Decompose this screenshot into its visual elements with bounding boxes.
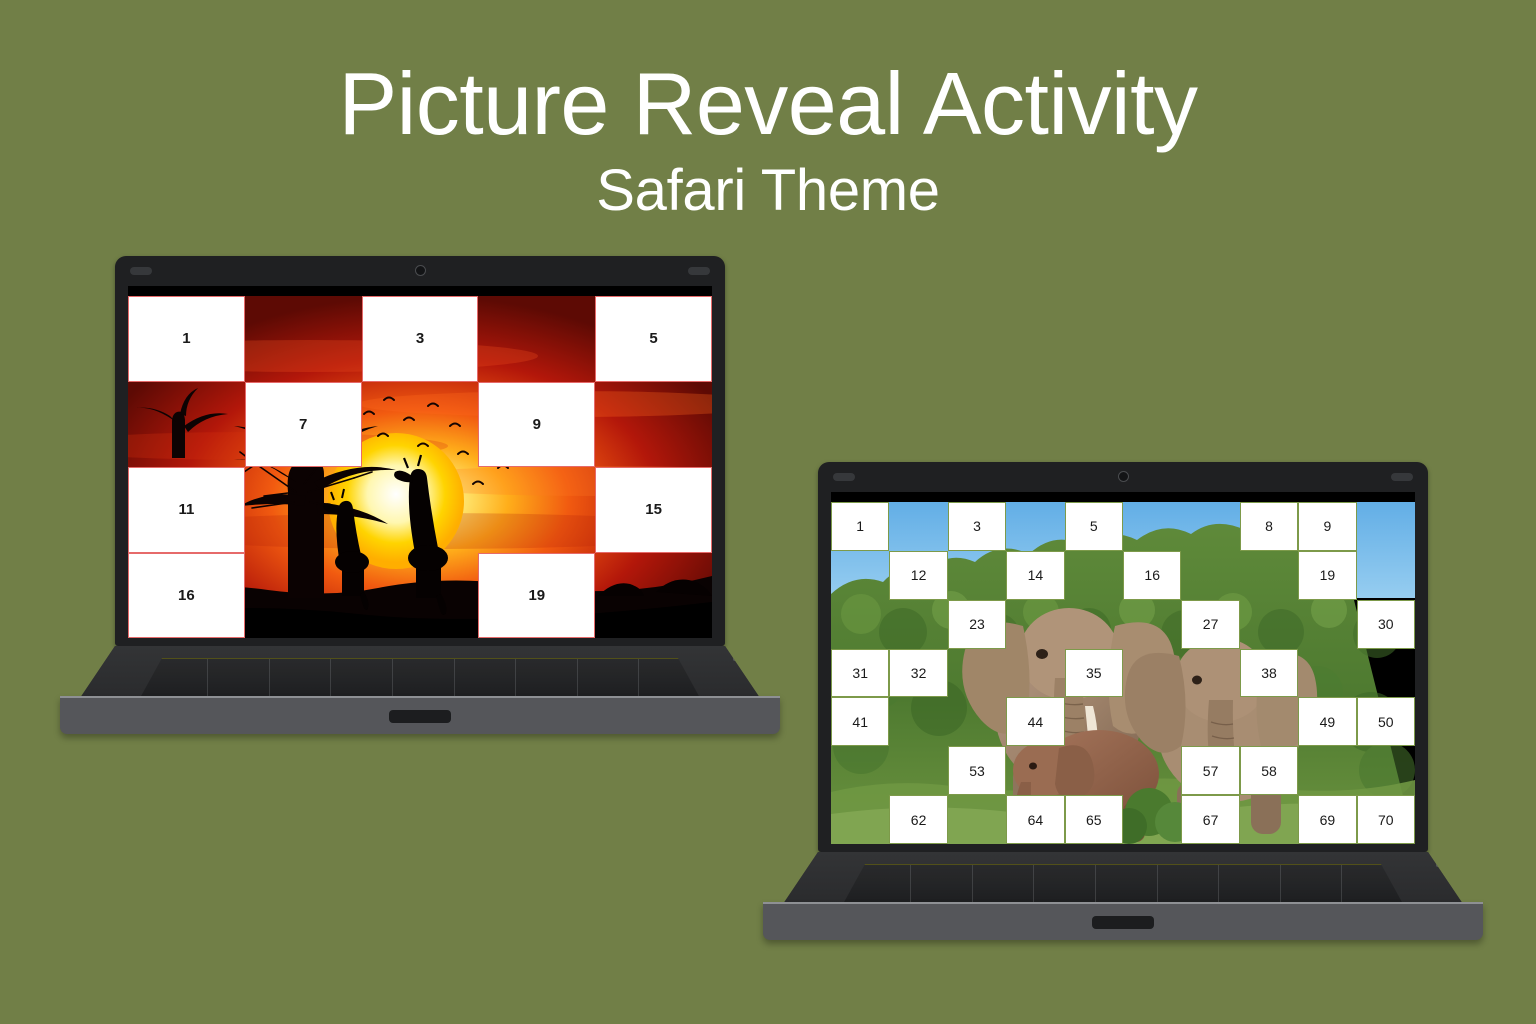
reveal-tile-number: 35 <box>1086 665 1102 681</box>
lid-release-notch-icon <box>1092 916 1154 929</box>
reveal-tile-number: 7 <box>299 416 307 433</box>
reveal-tile-number: 1 <box>182 330 190 347</box>
laptop-right-keyboard <box>843 864 1403 904</box>
speaker-grille-right-icon <box>1391 473 1413 481</box>
reveal-tile-revealed[interactable] <box>1123 795 1181 844</box>
reveal-tile-revealed[interactable] <box>1298 649 1356 698</box>
reveal-tile-revealed[interactable] <box>948 697 1006 746</box>
hinge-indicator-icon <box>1436 860 1449 867</box>
reveal-tile-number: 50 <box>1378 714 1394 730</box>
reveal-tile-revealed[interactable] <box>1181 697 1239 746</box>
reveal-tile-revealed[interactable] <box>889 697 947 746</box>
laptop-left-keyboard <box>140 658 700 698</box>
webcam-icon <box>415 265 426 276</box>
reveal-tile-covered[interactable]: 53 <box>948 746 1006 795</box>
reveal-tile-covered[interactable]: 19 <box>478 553 595 639</box>
reveal-tile-number: 70 <box>1378 812 1394 828</box>
reveal-tile-covered[interactable]: 23 <box>948 600 1006 649</box>
reveal-tile-revealed[interactable] <box>1181 551 1239 600</box>
reveal-tile-covered[interactable]: 8 <box>1240 502 1298 551</box>
reveal-tile-number: 30 <box>1378 616 1394 632</box>
reveal-tile-covered[interactable]: 7 <box>245 382 362 468</box>
reveal-tile-revealed[interactable] <box>1123 502 1181 551</box>
reveal-tile-revealed[interactable] <box>1240 600 1298 649</box>
reveal-tile-revealed[interactable] <box>831 600 889 649</box>
reveal-tile-number: 49 <box>1320 714 1336 730</box>
laptop-left-lid: 1357911151619 <box>115 256 725 646</box>
reveal-tile-revealed[interactable] <box>128 382 245 468</box>
reveal-tile-covered[interactable]: 44 <box>1006 697 1064 746</box>
reveal-tile-number: 67 <box>1203 812 1219 828</box>
page-title: Picture Reveal Activity <box>0 58 1536 150</box>
reveal-tile-number: 38 <box>1261 665 1277 681</box>
reveal-tile-covered[interactable]: 57 <box>1181 746 1239 795</box>
reveal-tile-number: 41 <box>852 714 868 730</box>
reveal-tile-number: 9 <box>1323 518 1331 534</box>
reveal-tile-revealed[interactable] <box>1181 502 1239 551</box>
page-heading: Picture Reveal Activity Safari Theme <box>0 58 1536 225</box>
reveal-tile-number: 8 <box>1265 518 1273 534</box>
reveal-tile-covered[interactable]: 38 <box>1240 649 1298 698</box>
reveal-tile-revealed[interactable] <box>1065 600 1123 649</box>
reveal-tile-revealed[interactable] <box>1357 502 1415 551</box>
reveal-tile-revealed[interactable] <box>1123 746 1181 795</box>
reveal-tile-revealed[interactable] <box>831 551 889 600</box>
reveal-tile-covered[interactable]: 1 <box>831 502 889 551</box>
reveal-tile-covered[interactable]: 30 <box>1357 600 1415 649</box>
reveal-tile-revealed[interactable] <box>1181 649 1239 698</box>
reveal-tile-covered[interactable]: 3 <box>362 296 479 382</box>
reveal-tile-number: 19 <box>528 587 545 604</box>
reveal-tile-number: 62 <box>911 812 927 828</box>
hinge-indicator-icon <box>733 654 746 661</box>
reveal-tile-covered[interactable]: 67 <box>1181 795 1239 844</box>
page-subtitle: Safari Theme <box>0 158 1536 225</box>
reveal-tile-number: 1 <box>856 518 864 534</box>
reveal-tile-number: 31 <box>852 665 868 681</box>
reveal-tile-covered[interactable]: 58 <box>1240 746 1298 795</box>
reveal-tile-covered[interactable]: 16 <box>1123 551 1181 600</box>
reveal-tile-covered[interactable]: 1 <box>128 296 245 382</box>
laptop-right: 1358912141619232730313235384144495053575… <box>763 462 1483 952</box>
reveal-tile-revealed[interactable] <box>1065 551 1123 600</box>
reveal-tile-covered[interactable]: 70 <box>1357 795 1415 844</box>
reveal-tile-number: 44 <box>1028 714 1044 730</box>
reveal-tile-number: 16 <box>178 587 195 604</box>
reveal-tile-covered[interactable]: 62 <box>889 795 947 844</box>
reveal-tile-revealed[interactable] <box>595 553 712 639</box>
reveal-tile-revealed[interactable] <box>889 502 947 551</box>
reveal-tile-revealed[interactable] <box>831 746 889 795</box>
reveal-tile-covered[interactable]: 27 <box>1181 600 1239 649</box>
reveal-tile-covered[interactable]: 19 <box>1298 551 1356 600</box>
speaker-grille-left-icon <box>130 267 152 275</box>
reveal-tile-covered[interactable]: 5 <box>1065 502 1123 551</box>
reveal-tile-number: 65 <box>1086 812 1102 828</box>
reveal-tile-revealed[interactable] <box>1123 649 1181 698</box>
reveal-tile-revealed[interactable] <box>831 795 889 844</box>
reveal-tile-revealed[interactable] <box>245 553 362 639</box>
reveal-tile-revealed[interactable] <box>245 296 362 382</box>
reveal-tile-number: 12 <box>911 567 927 583</box>
reveal-tile-revealed[interactable] <box>1240 795 1298 844</box>
reveal-tile-number: 3 <box>973 518 981 534</box>
reveal-tile-covered[interactable]: 69 <box>1298 795 1356 844</box>
reveal-tile-number: 27 <box>1203 616 1219 632</box>
reveal-tile-number: 11 <box>178 501 194 518</box>
laptop-left-bezel <box>115 256 725 286</box>
laptop-right-lid: 1358912141619232730313235384144495053575… <box>818 462 1428 852</box>
picture-reveal-grid-elephant[interactable]: 1358912141619232730313235384144495053575… <box>831 502 1415 844</box>
reveal-tile-covered[interactable]: 31 <box>831 649 889 698</box>
picture-reveal-grid-giraffe[interactable]: 1357911151619 <box>128 296 712 638</box>
reveal-tile-covered[interactable]: 5 <box>595 296 712 382</box>
speaker-grille-right-icon <box>688 267 710 275</box>
reveal-tile-covered[interactable]: 9 <box>1298 502 1356 551</box>
reveal-tile-covered[interactable]: 65 <box>1065 795 1123 844</box>
reveal-tile-covered[interactable]: 50 <box>1357 697 1415 746</box>
reveal-tile-revealed[interactable] <box>1357 746 1415 795</box>
reveal-tile-revealed[interactable] <box>1006 649 1064 698</box>
reveal-tile-number: 53 <box>969 763 985 779</box>
reveal-tile-covered[interactable]: 35 <box>1065 649 1123 698</box>
reveal-tile-revealed[interactable] <box>1298 600 1356 649</box>
reveal-tile-number: 5 <box>649 330 657 347</box>
reveal-tile-revealed[interactable] <box>1240 697 1298 746</box>
reveal-tile-number: 3 <box>416 330 424 347</box>
reveal-tile-revealed[interactable] <box>478 467 595 553</box>
reveal-tile-number: 57 <box>1203 763 1219 779</box>
reveal-tile-covered[interactable]: 16 <box>128 553 245 639</box>
reveal-tile-number: 64 <box>1028 812 1044 828</box>
reveal-tile-revealed[interactable] <box>1298 746 1356 795</box>
laptop-right-front-bar <box>763 902 1483 940</box>
reveal-tile-revealed[interactable] <box>1123 697 1181 746</box>
reveal-tile-covered[interactable]: 49 <box>1298 697 1356 746</box>
reveal-tile-revealed[interactable] <box>362 382 479 468</box>
reveal-tile-revealed[interactable] <box>362 553 479 639</box>
reveal-tile-revealed[interactable] <box>1240 551 1298 600</box>
reveal-tile-revealed[interactable] <box>1006 502 1064 551</box>
reveal-tile-revealed[interactable] <box>1006 600 1064 649</box>
reveal-tile-revealed[interactable] <box>362 467 479 553</box>
keyboard-key-lines <box>843 865 1403 904</box>
webcam-icon <box>1118 471 1129 482</box>
reveal-tile-revealed[interactable] <box>1123 600 1181 649</box>
laptop-left-deck <box>80 646 760 698</box>
reveal-tile-covered[interactable]: 64 <box>1006 795 1064 844</box>
reveal-tile-number: 9 <box>533 416 541 433</box>
speaker-grille-left-icon <box>833 473 855 481</box>
reveal-tile-revealed[interactable] <box>1065 697 1123 746</box>
reveal-tile-covered[interactable]: 3 <box>948 502 1006 551</box>
reveal-tile-covered[interactable]: 15 <box>595 467 712 553</box>
reveal-tile-covered[interactable]: 11 <box>128 467 245 553</box>
keyboard-key-lines <box>140 659 700 698</box>
laptop-right-bezel <box>818 462 1428 492</box>
reveal-tile-revealed[interactable] <box>595 382 712 468</box>
reveal-tile-covered[interactable]: 41 <box>831 697 889 746</box>
laptop-left: 1357911151619 <box>60 256 780 746</box>
reveal-tile-number: 32 <box>911 665 927 681</box>
reveal-tile-number: 14 <box>1028 567 1044 583</box>
laptop-left-front-bar <box>60 696 780 734</box>
reveal-tile-covered[interactable]: 32 <box>889 649 947 698</box>
reveal-tile-revealed[interactable] <box>478 296 595 382</box>
reveal-tile-revealed[interactable] <box>948 649 1006 698</box>
reveal-tile-number: 58 <box>1261 763 1277 779</box>
reveal-tile-revealed[interactable] <box>1357 551 1415 600</box>
reveal-tile-number: 69 <box>1320 812 1336 828</box>
reveal-tile-revealed[interactable] <box>1357 649 1415 698</box>
reveal-tile-covered[interactable]: 14 <box>1006 551 1064 600</box>
reveal-tile-number: 19 <box>1320 567 1336 583</box>
reveal-tile-number: 15 <box>645 501 662 518</box>
reveal-tile-number: 23 <box>969 616 985 632</box>
reveal-tile-covered[interactable]: 12 <box>889 551 947 600</box>
reveal-tile-revealed[interactable] <box>245 467 362 553</box>
reveal-tile-revealed[interactable] <box>948 551 1006 600</box>
reveal-tile-revealed[interactable] <box>889 600 947 649</box>
reveal-tile-covered[interactable]: 9 <box>478 382 595 468</box>
laptop-right-screen: 1358912141619232730313235384144495053575… <box>831 492 1415 844</box>
lid-release-notch-icon <box>389 710 451 723</box>
reveal-tile-revealed[interactable] <box>889 746 947 795</box>
laptop-left-screen: 1357911151619 <box>128 286 712 638</box>
reveal-tile-revealed[interactable] <box>948 795 1006 844</box>
reveal-tile-number: 5 <box>1090 518 1098 534</box>
reveal-tile-revealed[interactable] <box>1006 746 1064 795</box>
reveal-tile-revealed[interactable] <box>1065 746 1123 795</box>
laptop-right-deck <box>783 852 1463 904</box>
reveal-tile-number: 16 <box>1144 567 1160 583</box>
